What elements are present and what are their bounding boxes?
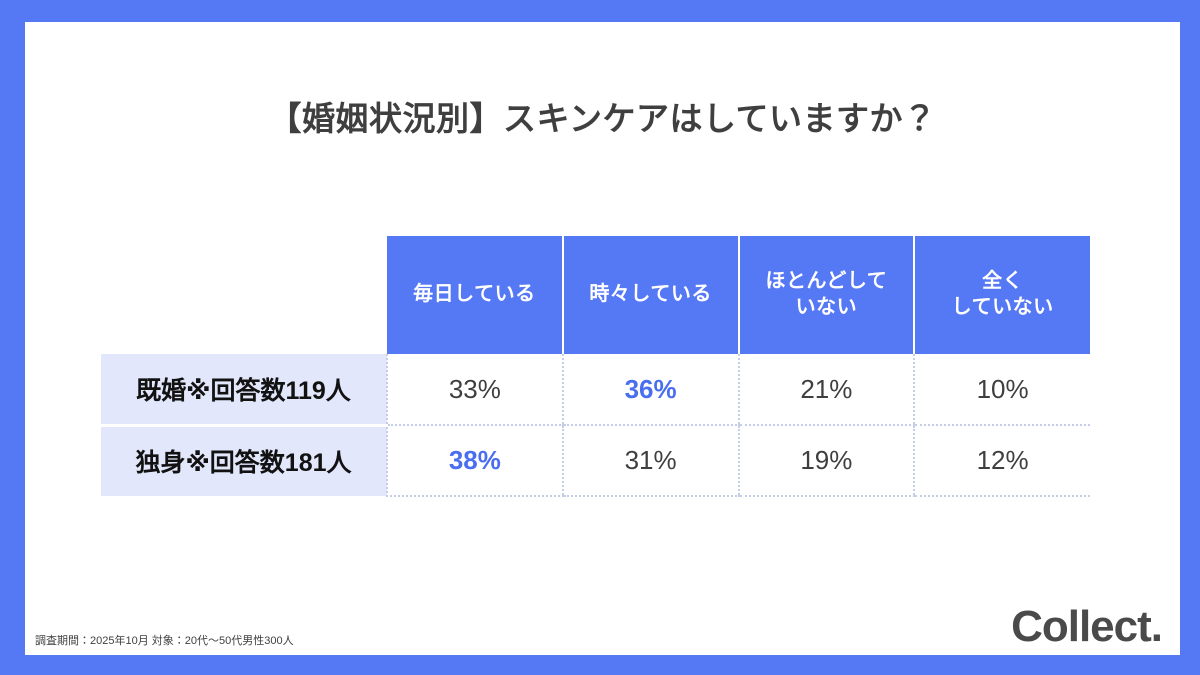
survey-footnote: 調査期間：2025年10月 対象：20代〜50代男性300人: [35, 632, 294, 648]
row-label-married: 既婚※回答数119人: [101, 354, 387, 425]
column-header-never: 全く していない: [914, 236, 1090, 354]
page-title: 【婚姻状況別】スキンケアはしていますか？: [25, 92, 1180, 140]
table-row: 独身※回答数181人 38% 31% 19% 12%: [101, 425, 1090, 496]
column-header-sometimes: 時々している: [563, 236, 739, 354]
content-card: 【婚姻状況別】スキンケアはしていますか？ 毎日している: [25, 22, 1180, 655]
column-header-daily: 毎日している: [387, 236, 563, 354]
column-header-never-line1: 全く: [982, 270, 1023, 292]
cell-single-daily: 38%: [387, 425, 563, 496]
column-header-sometimes-line1: 時々している: [589, 283, 711, 305]
survey-table-container: 毎日している 時々している ほとんどして いない 全く していない: [101, 236, 1090, 497]
cell-single-rarely: 19%: [739, 425, 915, 496]
cell-married-sometimes: 36%: [563, 354, 739, 425]
cell-married-rarely: 21%: [739, 354, 915, 425]
cell-married-daily: 33%: [387, 354, 563, 425]
cell-single-sometimes: 31%: [563, 425, 739, 496]
brand-logo: Collect.: [1011, 602, 1162, 652]
row-label-single: 独身※回答数181人: [101, 425, 387, 496]
table-header-row: 毎日している 時々している ほとんどして いない 全く していない: [101, 236, 1090, 354]
cell-single-never: 12%: [914, 425, 1090, 496]
column-header-rarely-line1: ほとんどして: [765, 270, 887, 292]
column-header-rarely: ほとんどして いない: [739, 236, 915, 354]
column-header-never-line2: していない: [952, 296, 1054, 318]
column-header-daily-line1: 毎日している: [413, 283, 535, 305]
column-header-rarely-line2: いない: [796, 296, 858, 318]
table-row: 既婚※回答数119人 33% 36% 21% 10%: [101, 354, 1090, 425]
slide-frame: 【婚姻状況別】スキンケアはしていますか？ 毎日している: [0, 0, 1200, 675]
table-corner-cell: [101, 236, 387, 354]
cell-married-never: 10%: [914, 354, 1090, 425]
survey-table: 毎日している 時々している ほとんどして いない 全く していない: [101, 236, 1090, 497]
